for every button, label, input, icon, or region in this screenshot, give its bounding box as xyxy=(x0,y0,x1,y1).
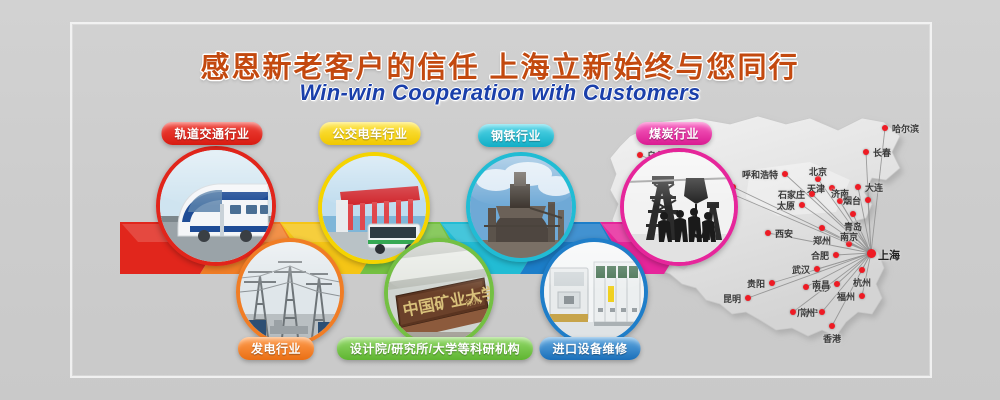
city-label: 太原 xyxy=(777,199,795,212)
city-dot-icon xyxy=(865,197,871,203)
city-dot-icon xyxy=(745,295,751,301)
city-label: 杭州 xyxy=(853,276,871,289)
city-dot-icon xyxy=(850,211,856,217)
city-dot-icon xyxy=(799,202,805,208)
city-label: 贵阳 xyxy=(747,277,765,290)
industry-photo-power[interactable] xyxy=(236,238,344,346)
city-label: 南京 xyxy=(840,230,858,243)
city-label: 长春 xyxy=(873,146,891,159)
city-label: 合肥 xyxy=(811,249,829,262)
industry-pill-1[interactable]: 公交电车行业 xyxy=(319,122,420,145)
switchgear-photo xyxy=(544,242,644,342)
city-label: 烟台 xyxy=(843,194,861,207)
city-label: 武汉 xyxy=(792,263,810,276)
city-dot-icon xyxy=(855,184,861,190)
city-dot-icon xyxy=(867,249,876,258)
city-label: 哈尔滨 xyxy=(892,122,919,135)
city-dot-icon xyxy=(882,125,888,131)
city-dot-icon xyxy=(859,267,865,273)
industry-pill-6[interactable]: 进口设备维修 xyxy=(539,337,640,360)
power-photo xyxy=(240,242,340,342)
city-dot-icon xyxy=(809,191,815,197)
city-label: 福州 xyxy=(837,290,855,303)
city-dot-icon xyxy=(819,225,825,231)
city-label: 西安 xyxy=(775,227,793,240)
city-dot-icon xyxy=(803,284,809,290)
industry-pill-0[interactable]: 轨道交通行业 xyxy=(161,122,262,145)
industry-photo-switchgear[interactable] xyxy=(540,238,648,346)
city-dot-icon xyxy=(863,149,869,155)
city-label: 广州 xyxy=(797,306,815,319)
industry-pill-3[interactable]: 煤炭行业 xyxy=(636,122,712,145)
city-label: 上海 xyxy=(878,247,900,263)
city-label: 北京 xyxy=(809,165,827,178)
city-label: 昆明 xyxy=(723,292,741,305)
city-dot-icon xyxy=(814,266,820,272)
city-dot-icon xyxy=(834,281,840,287)
city-label: 呼和浩特 xyxy=(742,168,778,181)
city-label: 香港 xyxy=(823,332,841,345)
banner-root: 哈尔滨长春乌鲁木齐呼和浩特北京天津大连银川石家庄济南烟台太原青岛西安郑州南京合肥… xyxy=(0,0,1000,400)
city-dot-icon xyxy=(833,252,839,258)
city-dot-icon xyxy=(829,323,835,329)
industry-pill-2[interactable]: 钢铁行业 xyxy=(478,124,554,147)
industry-pill-4[interactable]: 发电行业 xyxy=(238,337,314,360)
city-dot-icon xyxy=(790,309,796,315)
page-title-en: Win-win Cooperation with Customers xyxy=(0,80,1000,106)
city-label: 大连 xyxy=(865,181,883,194)
industry-pill-5[interactable]: 设计院/研究所/大学等科研机构 xyxy=(337,337,533,360)
industry-photo-university[interactable]: 中国矿业大学 徐州 xyxy=(384,238,494,348)
city-dot-icon xyxy=(819,309,825,315)
city-dot-icon xyxy=(859,293,865,299)
city-dot-icon xyxy=(769,280,775,286)
city-label: 郑州 xyxy=(813,234,831,247)
city-label: 南昌 xyxy=(812,278,830,291)
city-dot-icon xyxy=(765,230,771,236)
university-photo: 中国矿业大学 徐州 xyxy=(388,242,490,344)
city-dot-icon xyxy=(782,171,788,177)
